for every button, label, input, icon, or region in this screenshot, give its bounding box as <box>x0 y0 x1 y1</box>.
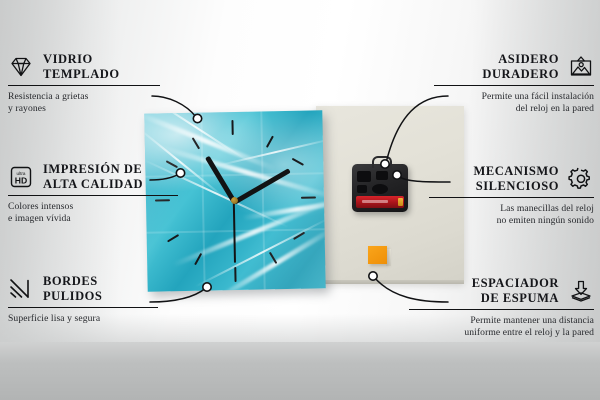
diagonal-lines-icon <box>8 277 34 301</box>
ultra-hd-icon: ultra HD <box>8 165 34 189</box>
feature-title-line2: PULIDOS <box>43 289 102 304</box>
feature-title-line2: ALTA CALIDAD <box>43 177 143 192</box>
feature-desc-line2: e imagen vívida <box>8 213 208 225</box>
feature-desc-line1: Resistencia a grietas <box>8 91 208 103</box>
gear-icon <box>568 167 594 191</box>
feature-desc-line2: no emiten ningún sonido <box>394 215 594 227</box>
feature-title-line1: ASIDERO <box>482 52 559 67</box>
feature-header: MECANISMO SILENCIOSO <box>394 164 594 193</box>
feature-divider <box>8 307 158 308</box>
feature-description: Resistencia a grietas y rayones <box>8 91 208 114</box>
feature-desc-line1: Permite una fácil instalación <box>394 91 594 103</box>
feature-title-line1: BORDES <box>43 274 102 289</box>
feature-title: ASIDERO DURADERO <box>482 52 559 81</box>
feature-desc-line2: del reloj en la pared <box>394 103 594 115</box>
feature-title-line1: IMPRESIÓN DE <box>43 162 143 177</box>
feature-description: Superficie lisa y segura <box>8 313 208 325</box>
feature-title: VIDRIO TEMPLADO <box>43 52 120 81</box>
feature-description: Las manecillas del reloj no emiten ningú… <box>394 203 594 226</box>
feature-vidrio-templado: VIDRIO TEMPLADO Resistencia a grietas y … <box>8 52 208 115</box>
feature-desc-line1: Superficie lisa y segura <box>8 313 208 325</box>
feature-title-line2: SILENCIOSO <box>473 179 559 194</box>
feature-title-line2: DE ESPUMA <box>472 291 559 306</box>
feature-desc-line2: uniforme entre el reloj y la pared <box>394 327 594 339</box>
feature-title: MECANISMO SILENCIOSO <box>473 164 559 193</box>
feature-title: ESPACIADOR DE ESPUMA <box>472 276 559 305</box>
feature-description: Permite una fácil instalación del reloj … <box>394 91 594 114</box>
arrow-onto-pad-icon <box>568 279 594 303</box>
feature-desc-line1: Permite mantener una distancia <box>394 315 594 327</box>
feature-desc-line1: Las manecillas del reloj <box>394 203 594 215</box>
feature-title: BORDES PULIDOS <box>43 274 102 303</box>
feature-title-line1: ESPACIADOR <box>472 276 559 291</box>
feature-divider <box>8 195 178 196</box>
svg-text:HD: HD <box>15 175 27 185</box>
framed-picture-icon <box>568 55 594 79</box>
feature-desc-line2: y rayones <box>8 103 208 115</box>
feature-header: ultra HD IMPRESIÓN DE ALTA CALIDAD <box>8 162 208 191</box>
feature-title-line2: DURADERO <box>482 67 559 82</box>
feature-title-line1: VIDRIO <box>43 52 120 67</box>
feature-espaciador-de-espuma: ESPACIADOR DE ESPUMA Permite mantener un… <box>394 276 594 339</box>
feature-description: Colores intensos e imagen vívida <box>8 201 208 224</box>
feature-divider <box>429 197 594 198</box>
feature-description: Permite mantener una distancia uniforme … <box>394 315 594 338</box>
feature-header: BORDES PULIDOS <box>8 274 208 303</box>
feature-divider <box>409 309 594 310</box>
feature-divider <box>8 85 160 86</box>
feature-desc-line1: Colores intensos <box>8 201 208 213</box>
mechanism-shaft <box>372 156 392 168</box>
infographic-canvas: VIDRIO TEMPLADO Resistencia a grietas y … <box>0 0 600 400</box>
diamond-icon <box>8 55 34 79</box>
feature-title-line2: TEMPLADO <box>43 67 120 82</box>
feature-impresion-alta-calidad: ultra HD IMPRESIÓN DE ALTA CALIDAD Color… <box>8 162 208 225</box>
feature-mecanismo-silencioso: MECANISMO SILENCIOSO Las manecillas del … <box>394 164 594 227</box>
feature-bordes-pulidos: BORDES PULIDOS Superficie lisa y segura <box>8 274 208 325</box>
feature-header: ASIDERO DURADERO <box>394 52 594 81</box>
feature-asidero-duradero: ASIDERO DURADERO Permite una fácil insta… <box>394 52 594 115</box>
feature-header: ESPACIADOR DE ESPUMA <box>394 276 594 305</box>
foam-spacer <box>368 246 387 264</box>
floor-surface <box>0 342 600 400</box>
feature-divider <box>434 85 594 86</box>
feature-header: VIDRIO TEMPLADO <box>8 52 208 81</box>
feature-title: IMPRESIÓN DE ALTA CALIDAD <box>43 162 143 191</box>
feature-title-line1: MECANISMO <box>473 164 559 179</box>
